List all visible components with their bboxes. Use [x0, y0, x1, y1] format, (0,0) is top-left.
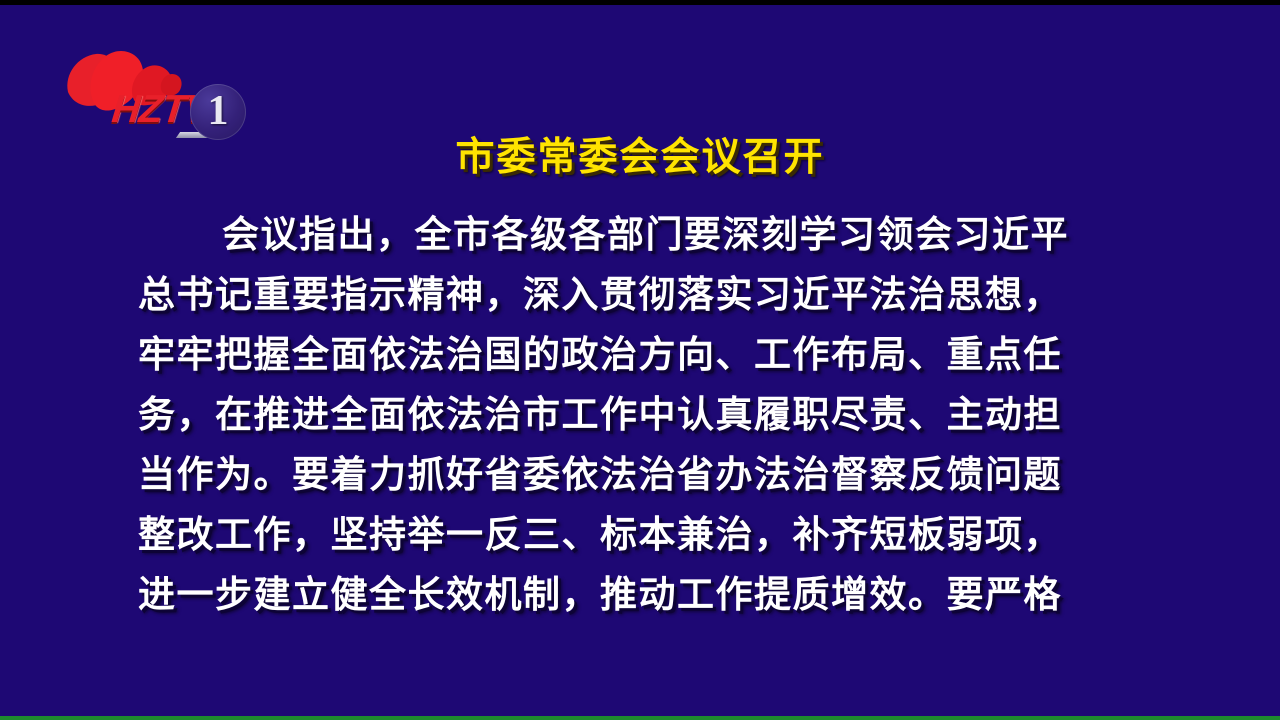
- headline-title: 市委常委会会议召开: [0, 126, 1280, 182]
- body-text-block: 会议指出，全市各级各部门要深刻学习领会习近平 总书记重要指示精神，深入贯彻落实习…: [138, 205, 1142, 625]
- body-line: 牢牢把握全面依法治国的政治方向、工作布局、重点任: [138, 325, 1142, 385]
- body-line: 会议指出，全市各级各部门要深刻学习领会习近平: [138, 205, 1142, 265]
- top-letterbox-bar: [0, 0, 1280, 5]
- body-line: 总书记重要指示精神，深入贯彻落实习近平法治思想，: [138, 265, 1142, 325]
- body-line: 进一步建立健全长效机制，推动工作提质增效。要严格: [138, 565, 1142, 625]
- broadcast-frame: HZTV 1 市委常委会会议召开 会议指出，全市各级各部门要深刻学习领会习近平 …: [0, 0, 1280, 720]
- body-line: 务，在推进全面依法治市工作中认真履职尽责、主动担: [138, 385, 1142, 445]
- bottom-green-bar: [0, 716, 1280, 720]
- body-line: 当作为。要着力抓好省委依法治省办法治督察反馈问题: [138, 445, 1142, 505]
- body-line: 整改工作，坚持举一反三、标本兼治，补齐短板弱项，: [138, 505, 1142, 565]
